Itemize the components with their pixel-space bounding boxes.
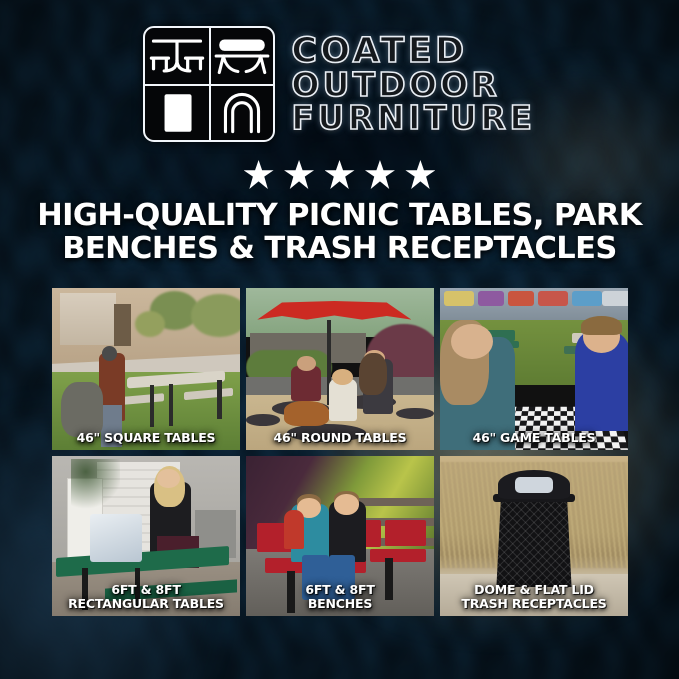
star-rating [0,160,679,194]
star-icon-3 [325,160,355,189]
product-tile-square-tables[interactable]: 46" SQUARE TABLES [52,288,240,450]
caption-line-1: DOME & FLAT LID [474,582,594,597]
product-tile-game-tables[interactable]: 46" GAME TABLES [440,288,628,450]
caption-line-2: RECTANGULAR TABLES [52,597,240,611]
caption-line-2: BENCHES [246,597,434,611]
headline-line-2: BENCHES & TRASH RECEPTACLES [30,233,649,266]
brand-word-furniture: FURNITURE [291,102,535,134]
star-icon-5 [405,160,435,189]
star-icon-2 [284,160,314,189]
product-photo-square-tables [52,288,240,450]
brand-logo: COATED OUTDOOR FURNITURE [0,26,679,142]
brand-word-outdoor: OUTDOOR [291,69,500,101]
product-caption-trash-receptacles: DOME & FLAT LID TRASH RECEPTACLES [440,583,628,610]
park-bench-icon [209,28,273,84]
caption-line-1: 6FT & 8FT [305,582,374,597]
product-photo-game-tables [440,288,628,450]
picnic-table-icon [145,28,209,84]
headline-line-1: HIGH-QUALITY PICNIC TABLES, PARK [37,198,642,233]
logo-icon-grid [143,26,275,142]
caption-line-1: 46" GAME TABLES [473,430,596,445]
bike-rack-icon [209,84,273,140]
caption-line-1: 46" ROUND TABLES [274,430,407,445]
product-tile-grid: 46" SQUARE TABLES [52,288,628,616]
trash-receptacle-icon [145,84,209,140]
product-caption-square-tables: 46" SQUARE TABLES [52,431,240,445]
caption-line-1: 6FT & 8FT [111,582,180,597]
caption-line-2: TRASH RECEPTACLES [440,597,628,611]
product-tile-benches[interactable]: 6FT & 8FT BENCHES [246,456,434,616]
product-tile-rectangular-tables[interactable]: 6FT & 8FT RECTANGULAR TABLES [52,456,240,616]
brand-wordmark: COATED OUTDOOR FURNITURE [291,34,535,135]
product-tile-round-tables[interactable]: 46" ROUND TABLES [246,288,434,450]
product-tile-trash-receptacles[interactable]: DOME & FLAT LID TRASH RECEPTACLES [440,456,628,616]
star-icon-4 [365,160,395,189]
product-caption-rectangular-tables: 6FT & 8FT RECTANGULAR TABLES [52,583,240,610]
poster-canvas: COATED OUTDOOR FURNITURE HIGH-QUALITY PI… [0,0,679,679]
brand-word-coated: COATED [291,34,467,68]
headline: HIGH-QUALITY PICNIC TABLES, PARK BENCHES… [30,200,649,265]
product-caption-game-tables: 46" GAME TABLES [440,431,628,445]
product-photo-round-tables [246,288,434,450]
caption-line-1: 46" SQUARE TABLES [77,430,216,445]
star-icon-1 [244,160,274,189]
product-caption-round-tables: 46" ROUND TABLES [246,431,434,445]
product-caption-benches: 6FT & 8FT BENCHES [246,583,434,610]
